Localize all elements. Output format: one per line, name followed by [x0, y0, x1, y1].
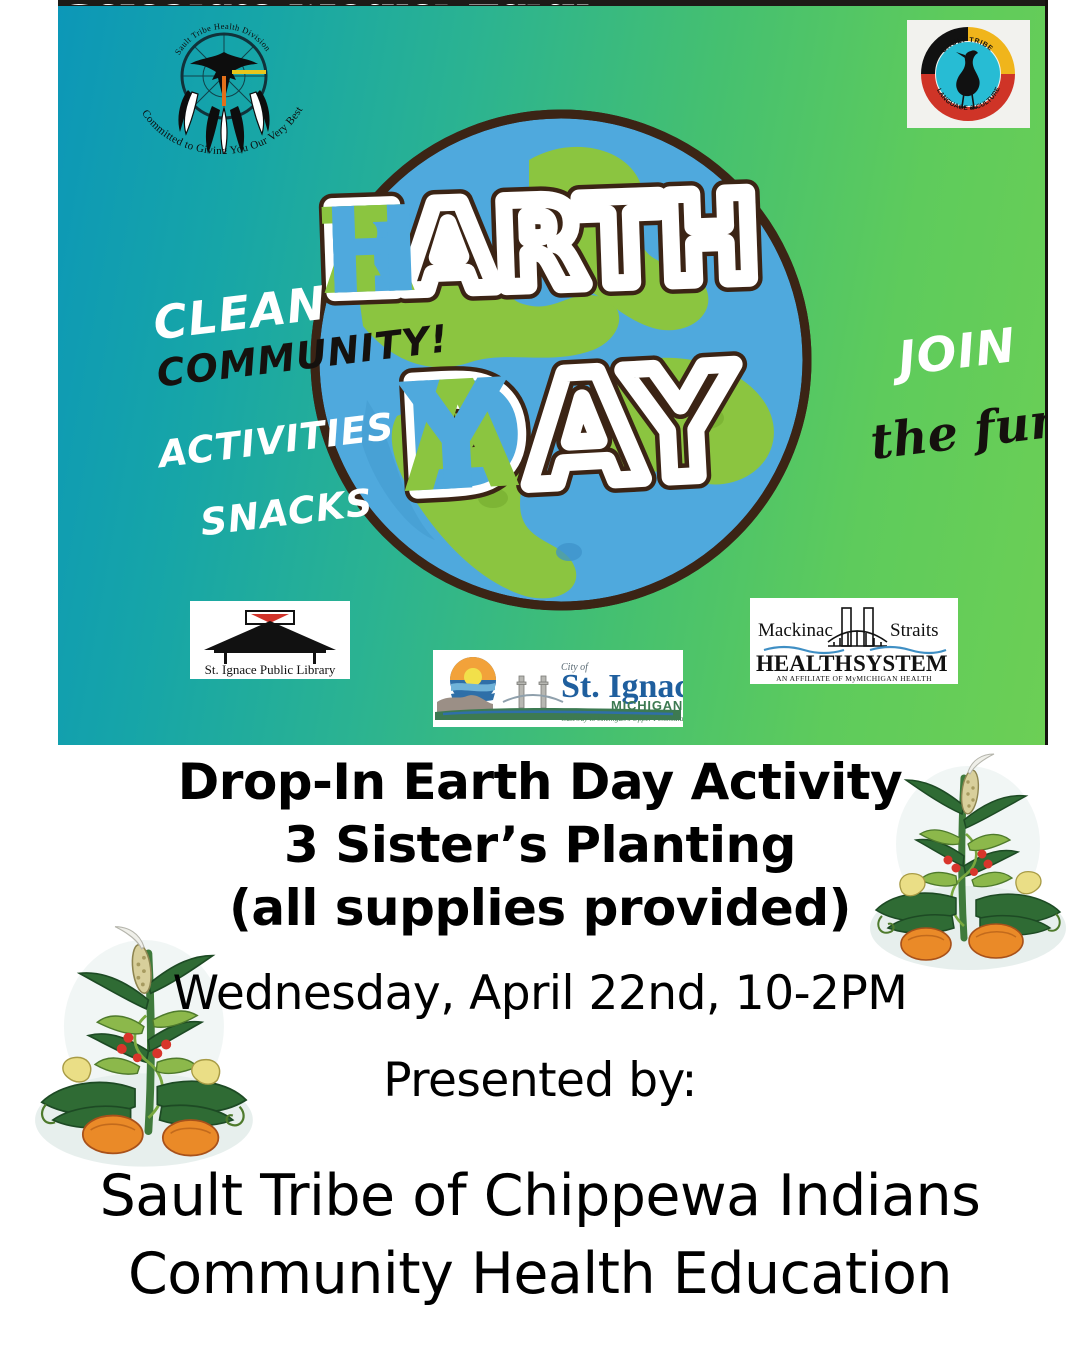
presented-by-label: Presented by: [0, 1057, 1080, 1106]
event-details-section: Drop-In Earth Day Activity 3 Sister’s Pl… [0, 745, 1080, 1350]
activity-title-line-2: 3 Sister’s Planting [0, 819, 1080, 871]
presenter-line-1: Sault Tribe of Chippewa Indians [0, 1167, 1080, 1226]
library-logo-name: St. Ignace Public Library [205, 662, 336, 677]
mackinac-straits-health-system-logo: Mackinac Straits HEALTH SYSTEM AN AFFILI… [750, 598, 958, 684]
city-logo-tagline: Gateway to Michigan's Upper Peninsula [561, 714, 683, 723]
mackinac-logo-line2b: SYSTEM [853, 651, 948, 676]
feature-word-join: JOIN [895, 318, 1019, 387]
feature-word-the-fun: the fun! [867, 389, 1048, 471]
presenter-line-2: Community Health Education [0, 1245, 1080, 1304]
activity-title-line-1: Drop-In Earth Day Activity [0, 756, 1080, 808]
st-ignace-public-library-logo: St. Ignace Public Library [190, 601, 350, 679]
mackinac-logo-line1a: Mackinac [758, 620, 833, 641]
activity-title-line-3: (all supplies provided) [0, 882, 1080, 934]
city-logo-state: MICHIGAN [611, 698, 683, 713]
sault-tribe-health-division-logo: Sault Tribe Health Division Committed to… [126, 14, 321, 154]
earth-day-banner: Celebrate Mother Earth [58, 0, 1048, 745]
mackinac-logo-line2a: HEALTH [756, 651, 852, 676]
three-sisters-plant-illustration-left [22, 920, 267, 1170]
event-date-time: Wednesday, April 22nd, 10-2PM [0, 970, 1080, 1019]
city-of-st-ignace-logo: City of St. Ignace MICHIGAN Gateway to M… [433, 650, 683, 727]
sault-tribe-language-culture-logo: SAULT TRIBE LANGUAGE & CULTURE [907, 20, 1030, 128]
mackinac-logo-affiliate: AN AFFILIATE OF MyMICHIGAN HEALTH [776, 674, 932, 683]
mackinac-logo-line1b: Straits [890, 620, 939, 641]
